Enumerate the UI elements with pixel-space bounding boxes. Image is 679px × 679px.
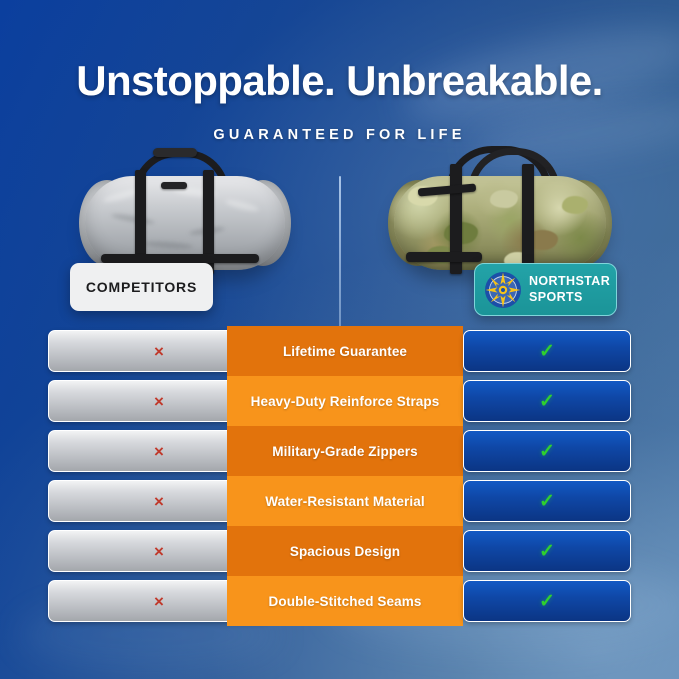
- cross-icon: ×: [154, 443, 164, 460]
- cross-icon: ×: [154, 543, 164, 560]
- brand-line-2: SPORTS: [529, 290, 583, 304]
- northstar-brand-card: NORTHSTAR SPORTS: [474, 263, 617, 316]
- feature-label: Lifetime Guarantee: [227, 326, 463, 376]
- brand-line-1: NORTHSTAR: [529, 274, 610, 288]
- cross-icon: ×: [154, 343, 164, 360]
- northstar-cell: ✓: [463, 480, 631, 522]
- comparison-table: × Lifetime Guarantee ✓ × Heavy-Duty Rein…: [0, 330, 679, 640]
- northstar-cell: ✓: [463, 330, 631, 372]
- bag-strap-bottom: [406, 252, 482, 262]
- product-comparison-infographic: Unstoppable. Unbreakable. GUARANTEED FOR…: [0, 0, 679, 679]
- table-row: × Military-Grade Zippers ✓: [0, 430, 679, 480]
- cross-icon: ×: [154, 493, 164, 510]
- cross-icon: ×: [154, 393, 164, 410]
- northstar-cell: ✓: [463, 380, 631, 422]
- table-row: × Double-Stitched Seams ✓: [0, 580, 679, 630]
- bag-strap-bottom: [101, 254, 259, 263]
- northstar-cell: ✓: [463, 430, 631, 472]
- check-icon: ✓: [539, 592, 555, 611]
- northstar-cell: ✓: [463, 530, 631, 572]
- bag-buckle: [161, 182, 187, 189]
- table-row: × Heavy-Duty Reinforce Straps ✓: [0, 380, 679, 430]
- feature-label: Water-Resistant Material: [227, 476, 463, 526]
- page-subheadline: GUARANTEED FOR LIFE: [0, 127, 679, 143]
- compass-star-seal-icon: [484, 271, 522, 309]
- feature-label: Military-Grade Zippers: [227, 426, 463, 476]
- feature-label: Double-Stitched Seams: [227, 576, 463, 626]
- check-icon: ✓: [539, 492, 555, 511]
- table-row: × Spacious Design ✓: [0, 530, 679, 580]
- northstar-brand-text: NORTHSTAR SPORTS: [529, 274, 610, 305]
- check-icon: ✓: [539, 542, 555, 561]
- competitors-label-text: COMPETITORS: [86, 279, 197, 295]
- check-icon: ✓: [539, 392, 555, 411]
- competitors-label-card: COMPETITORS: [70, 263, 213, 311]
- table-row: × Lifetime Guarantee ✓: [0, 330, 679, 380]
- feature-label: Spacious Design: [227, 526, 463, 576]
- cross-icon: ×: [154, 593, 164, 610]
- page-headline: Unstoppable. Unbreakable.: [0, 57, 679, 105]
- table-row: × Water-Resistant Material ✓: [0, 480, 679, 530]
- feature-label: Heavy-Duty Reinforce Straps: [227, 376, 463, 426]
- northstar-cell: ✓: [463, 580, 631, 622]
- bag-strap-right: [522, 164, 534, 274]
- check-icon: ✓: [539, 442, 555, 461]
- bag-handle-grip: [153, 148, 197, 157]
- check-icon: ✓: [539, 342, 555, 361]
- vertical-divider: [339, 176, 341, 331]
